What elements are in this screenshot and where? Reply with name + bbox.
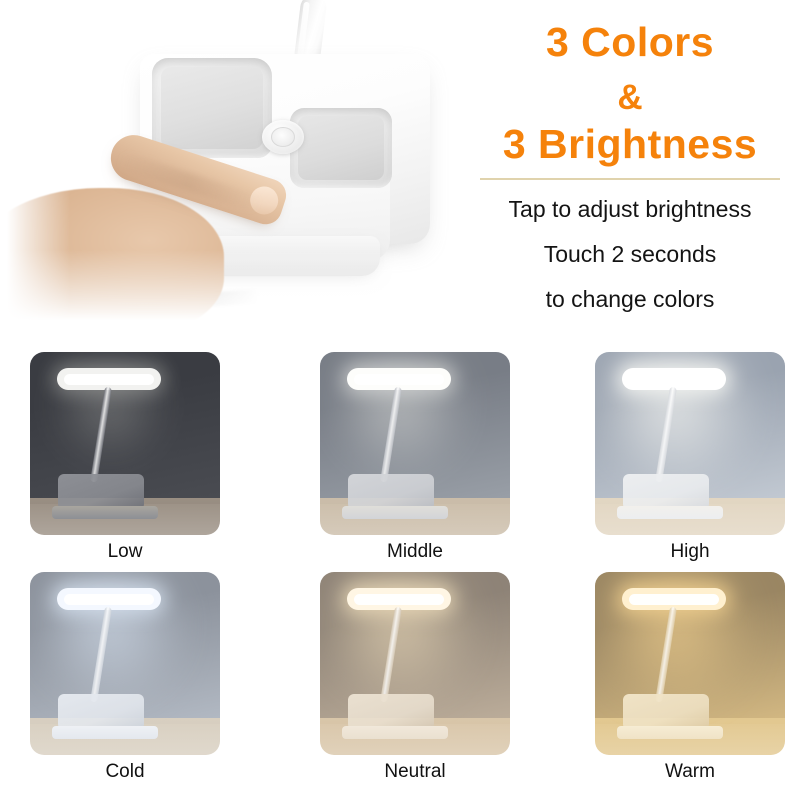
headline-ampersand: & [460, 78, 800, 118]
headline-line-1: 3 Colors [460, 22, 800, 63]
lamp-base-tray [342, 506, 448, 519]
sample-photo-cold [30, 572, 220, 755]
sample-photo-low [30, 352, 220, 535]
subtext-line-3: to change colors [460, 288, 800, 311]
pen-holder-left [152, 58, 272, 158]
light-panel-highlight [629, 374, 719, 385]
light-panel-highlight [354, 594, 444, 605]
sample-cell-warm: Warm [595, 572, 785, 781]
pen-holder-right [290, 108, 392, 188]
headline-block: 3 Colors & 3 Brightness Tap to adjust br… [460, 0, 800, 340]
lamp-base-tray [342, 726, 448, 739]
lamp-base-box [348, 474, 434, 510]
sample-grid: LowMiddleHighColdNeutralWarm [0, 340, 800, 800]
light-panel-highlight [354, 374, 444, 385]
light-panel-highlight [64, 594, 154, 605]
lamp-base-box [623, 694, 709, 730]
sample-caption: High [595, 542, 785, 561]
lamp-base-tray [617, 726, 723, 739]
lamp-base-box [58, 474, 144, 510]
sample-caption: Neutral [320, 762, 510, 781]
sample-photo-neutral [320, 572, 510, 755]
sample-photo-middle [320, 352, 510, 535]
sample-photo-high [595, 352, 785, 535]
headline-divider [480, 178, 780, 180]
sample-caption: Cold [30, 762, 220, 781]
lamp-base-tray [617, 506, 723, 519]
lamp-base-box [348, 694, 434, 730]
subtext-line-2: Touch 2 seconds [460, 243, 800, 266]
sample-caption: Low [30, 542, 220, 561]
product-feature-graphic: 3 Colors & 3 Brightness Tap to adjust br… [0, 0, 800, 800]
lamp-base-tray [52, 726, 158, 739]
lamp-base-tray [52, 506, 158, 519]
touch-button[interactable] [262, 120, 304, 154]
hero-product-photo [0, 0, 460, 340]
sample-cell-high: High [595, 352, 785, 561]
lamp-base-box [58, 694, 144, 730]
sample-cell-cold: Cold [30, 572, 220, 781]
sample-photo-warm [595, 572, 785, 755]
sample-caption: Warm [595, 762, 785, 781]
light-panel-highlight [629, 594, 719, 605]
hero-left-fade [0, 0, 70, 340]
lamp-base-box [623, 474, 709, 510]
light-panel-highlight [64, 374, 154, 385]
headline-line-2: 3 Brightness [460, 124, 800, 165]
sample-cell-neutral: Neutral [320, 572, 510, 781]
subtext-line-1: Tap to adjust brightness [460, 198, 800, 221]
sample-cell-low: Low [30, 352, 220, 561]
sample-caption: Middle [320, 542, 510, 561]
sample-cell-middle: Middle [320, 352, 510, 561]
